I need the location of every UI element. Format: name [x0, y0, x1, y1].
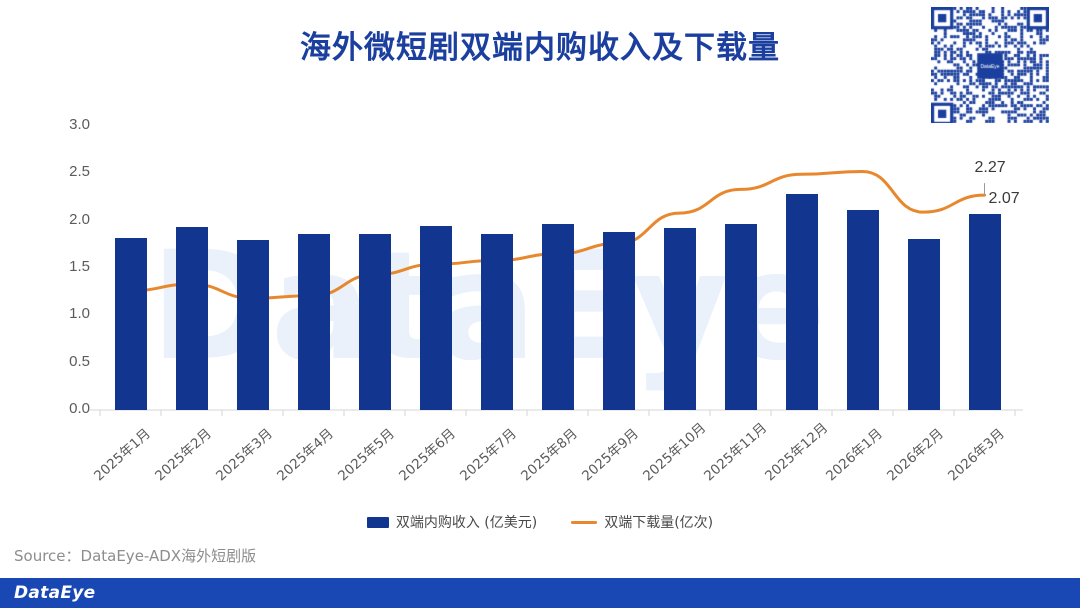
- source-note: Source：DataEye-ADX海外短剧版: [14, 545, 256, 566]
- bar-column[interactable]: [847, 210, 879, 410]
- legend-item[interactable]: 双端下载量(亿次): [571, 512, 713, 532]
- footer-brand-logo: DataEye: [14, 583, 96, 603]
- x-axis-tick-label: 2025年3月: [210, 424, 274, 484]
- bar-column[interactable]: [481, 234, 513, 410]
- bar-column[interactable]: [359, 234, 391, 410]
- bar-column[interactable]: [603, 232, 635, 410]
- legend-item[interactable]: 双端内购收入 (亿美元): [367, 512, 537, 532]
- y-axis-tick-label: 1.5: [48, 258, 90, 275]
- x-axis-tick-label: 2025年5月: [332, 424, 396, 484]
- x-axis-tick-label: 2025年4月: [271, 424, 335, 484]
- y-axis-tick-label: 3.0: [48, 116, 90, 133]
- y-axis-tick-label: 1.0: [48, 305, 90, 322]
- y-axis-tick-label: 0.0: [48, 400, 90, 417]
- legend-bar-swatch-icon: [367, 517, 389, 528]
- bar-column[interactable]: [786, 194, 818, 410]
- download-trend-line[interactable]: [131, 171, 985, 298]
- qr-code-canvas: [931, 7, 1049, 123]
- y-axis-tick-label: 0.5: [48, 353, 90, 370]
- bar-column[interactable]: [237, 240, 269, 410]
- page-title: 海外微短剧双端内购收入及下载量: [0, 22, 1080, 67]
- x-axis-tick-label: 2025年7月: [454, 424, 518, 484]
- x-axis-tick-label: 2026年3月: [942, 424, 1006, 484]
- data-label-revenue: 2.07: [989, 190, 1020, 208]
- x-axis-tick-label: 2025年12月: [759, 424, 823, 484]
- bar-column[interactable]: [969, 214, 1001, 410]
- legend-item-label: 双端内购收入 (亿美元): [396, 512, 537, 532]
- x-axis-tick-label: 2025年11月: [698, 424, 762, 484]
- chart-page: 海外微短剧双端内购收入及下载量 DataEye 0.00.51.01.52.02…: [0, 0, 1080, 608]
- bar-column[interactable]: [725, 224, 757, 410]
- bar-column[interactable]: [298, 234, 330, 410]
- bar-column[interactable]: [542, 224, 574, 410]
- bar-column[interactable]: [908, 239, 940, 410]
- footer-bar: DataEye: [0, 578, 1080, 608]
- x-axis-tick-label: 2025年9月: [576, 424, 640, 484]
- x-axis-tick-label: 2025年8月: [515, 424, 579, 484]
- y-axis-tick-label: 2.0: [48, 211, 90, 228]
- chart-legend: 双端内购收入 (亿美元)双端下载量(亿次): [0, 512, 1080, 532]
- bar-column[interactable]: [664, 228, 696, 410]
- legend-line-swatch-icon: [571, 521, 597, 524]
- x-axis-tick-label: 2025年2月: [149, 424, 213, 484]
- bar-column[interactable]: [115, 238, 147, 410]
- watermark-text: DataEye: [150, 215, 870, 400]
- x-axis-tick-label: 2026年1月: [820, 424, 884, 484]
- data-label-download: 2.27: [975, 159, 1006, 177]
- bar-column[interactable]: [176, 227, 208, 410]
- bar-column[interactable]: [420, 226, 452, 410]
- x-axis-tick-label: 2025年6月: [393, 424, 457, 484]
- x-axis-tick-label: 2026年2月: [881, 424, 945, 484]
- x-axis-tick-label: 2025年10月: [637, 424, 701, 484]
- legend-item-label: 双端下载量(亿次): [604, 512, 713, 532]
- y-axis-tick-label: 2.5: [48, 163, 90, 180]
- qr-code[interactable]: [931, 7, 1049, 123]
- x-axis-tick-label: 2025年1月: [88, 424, 152, 484]
